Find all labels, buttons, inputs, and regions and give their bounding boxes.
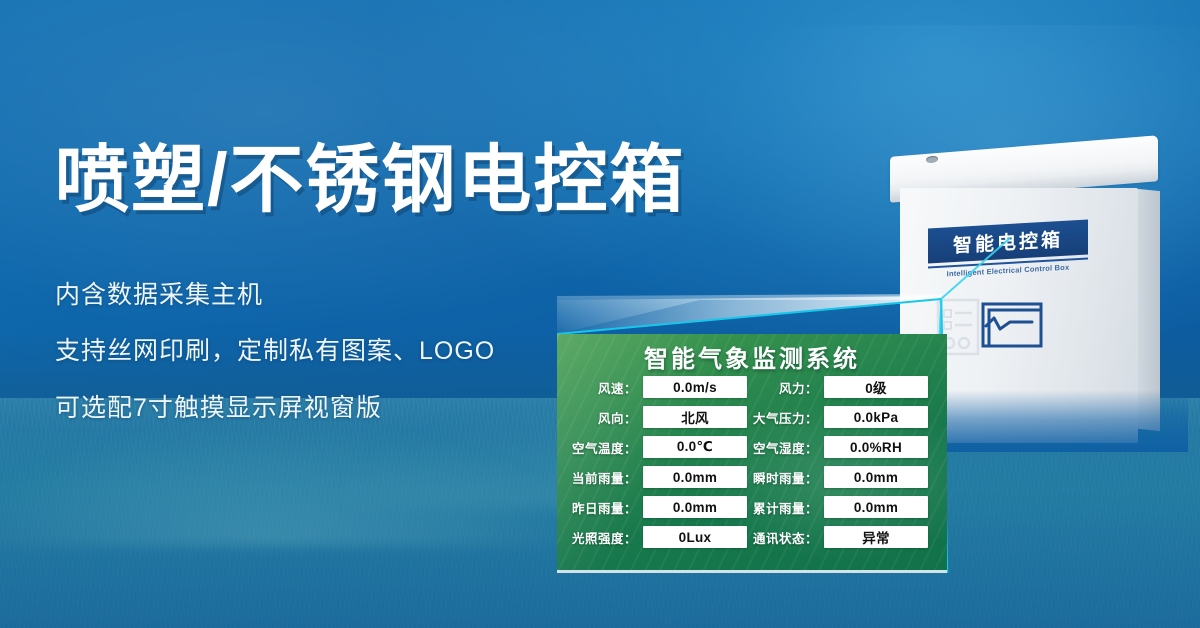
reading-label: 当前雨量： [571, 468, 637, 487]
reading-air-pressure: 大气压力： 0.0kPa [752, 406, 933, 428]
reading-label: 光照强度： [571, 528, 637, 547]
reading-value: 0.0%RH [824, 436, 928, 458]
reading-value: 0.0℃ [643, 436, 747, 458]
reading-row: 当前雨量： 0.0mm 瞬时雨量： 0.0mm [571, 466, 933, 488]
reading-row: 风向： 北风 大气压力： 0.0kPa [571, 406, 933, 428]
reading-row: 光照强度： 0Lux 通讯状态： 异常 [571, 526, 933, 548]
reading-yesterday-rainfall: 昨日雨量： 0.0mm [571, 496, 752, 518]
reading-value: 0.0kPa [824, 406, 928, 428]
reading-communication-status: 通讯状态： 异常 [752, 526, 933, 548]
weather-readings-grid: 风速： 0.0m/s 风力： 0级 风向： 北风 大气压力： 0.0kPa [571, 376, 933, 548]
reading-wind-force: 风力： 0级 [752, 376, 933, 398]
reading-label: 风向： [571, 408, 637, 427]
reading-row: 风速： 0.0m/s 风力： 0级 [571, 376, 933, 398]
product-banner: 喷塑/不锈钢电控箱 内含数据采集主机 支持丝网印刷，定制私有图案、LOGO 可选… [0, 0, 1200, 628]
reading-label: 瞬时雨量： [752, 468, 818, 487]
reading-wind-direction: 风向： 北风 [571, 406, 752, 428]
reading-light-intensity: 光照强度： 0Lux [571, 526, 752, 548]
reading-label: 昨日雨量： [571, 498, 637, 517]
reading-value: 0.0mm [824, 466, 928, 488]
control-box-nameplate-label: 智能电控箱 [953, 225, 1063, 258]
feature-item-1: 内含数据采集主机 [55, 282, 755, 310]
reading-value: 北风 [643, 406, 747, 428]
reading-value: 0.0m/s [643, 376, 747, 398]
weather-panel-title: 智能气象监测系统 [557, 339, 947, 374]
reading-label: 空气湿度： [752, 438, 818, 457]
reading-value: 0.0mm [643, 466, 747, 488]
reading-air-humidity: 空气湿度： 0.0%RH [752, 436, 933, 458]
reading-label: 大气压力： [752, 408, 818, 427]
reading-label: 通讯状态： [752, 528, 818, 547]
reading-air-temperature: 空气温度： 0.0℃ [571, 436, 752, 458]
monitor-chart-icon [980, 300, 1048, 354]
weather-monitoring-panel[interactable]: 智能气象监测系统 风速： 0.0m/s 风力： 0级 风向： 北风 大气压力 [557, 334, 947, 573]
reading-row: 空气温度： 0.0℃ 空气湿度： 0.0%RH [571, 436, 933, 458]
reading-label: 风速： [571, 378, 637, 397]
page-title: 喷塑/不锈钢电控箱 [55, 140, 755, 220]
reading-row: 昨日雨量： 0.0mm 累计雨量： 0.0mm [571, 496, 933, 518]
reading-label: 累计雨量： [752, 498, 818, 517]
reading-label: 空气温度： [571, 438, 637, 457]
reading-label: 风力： [752, 378, 818, 397]
reading-value: 0级 [824, 376, 928, 398]
reading-wind-speed: 风速： 0.0m/s [571, 376, 752, 398]
status-badge: 异常 [824, 526, 928, 548]
reading-instant-rainfall: 瞬时雨量： 0.0mm [752, 466, 933, 488]
reading-value: 0.0mm [643, 496, 747, 518]
reading-current-rainfall: 当前雨量： 0.0mm [571, 466, 752, 488]
reading-cumulative-rainfall: 累计雨量： 0.0mm [752, 496, 933, 518]
reading-value: 0Lux [643, 526, 747, 548]
reading-value: 0.0mm [824, 496, 928, 518]
